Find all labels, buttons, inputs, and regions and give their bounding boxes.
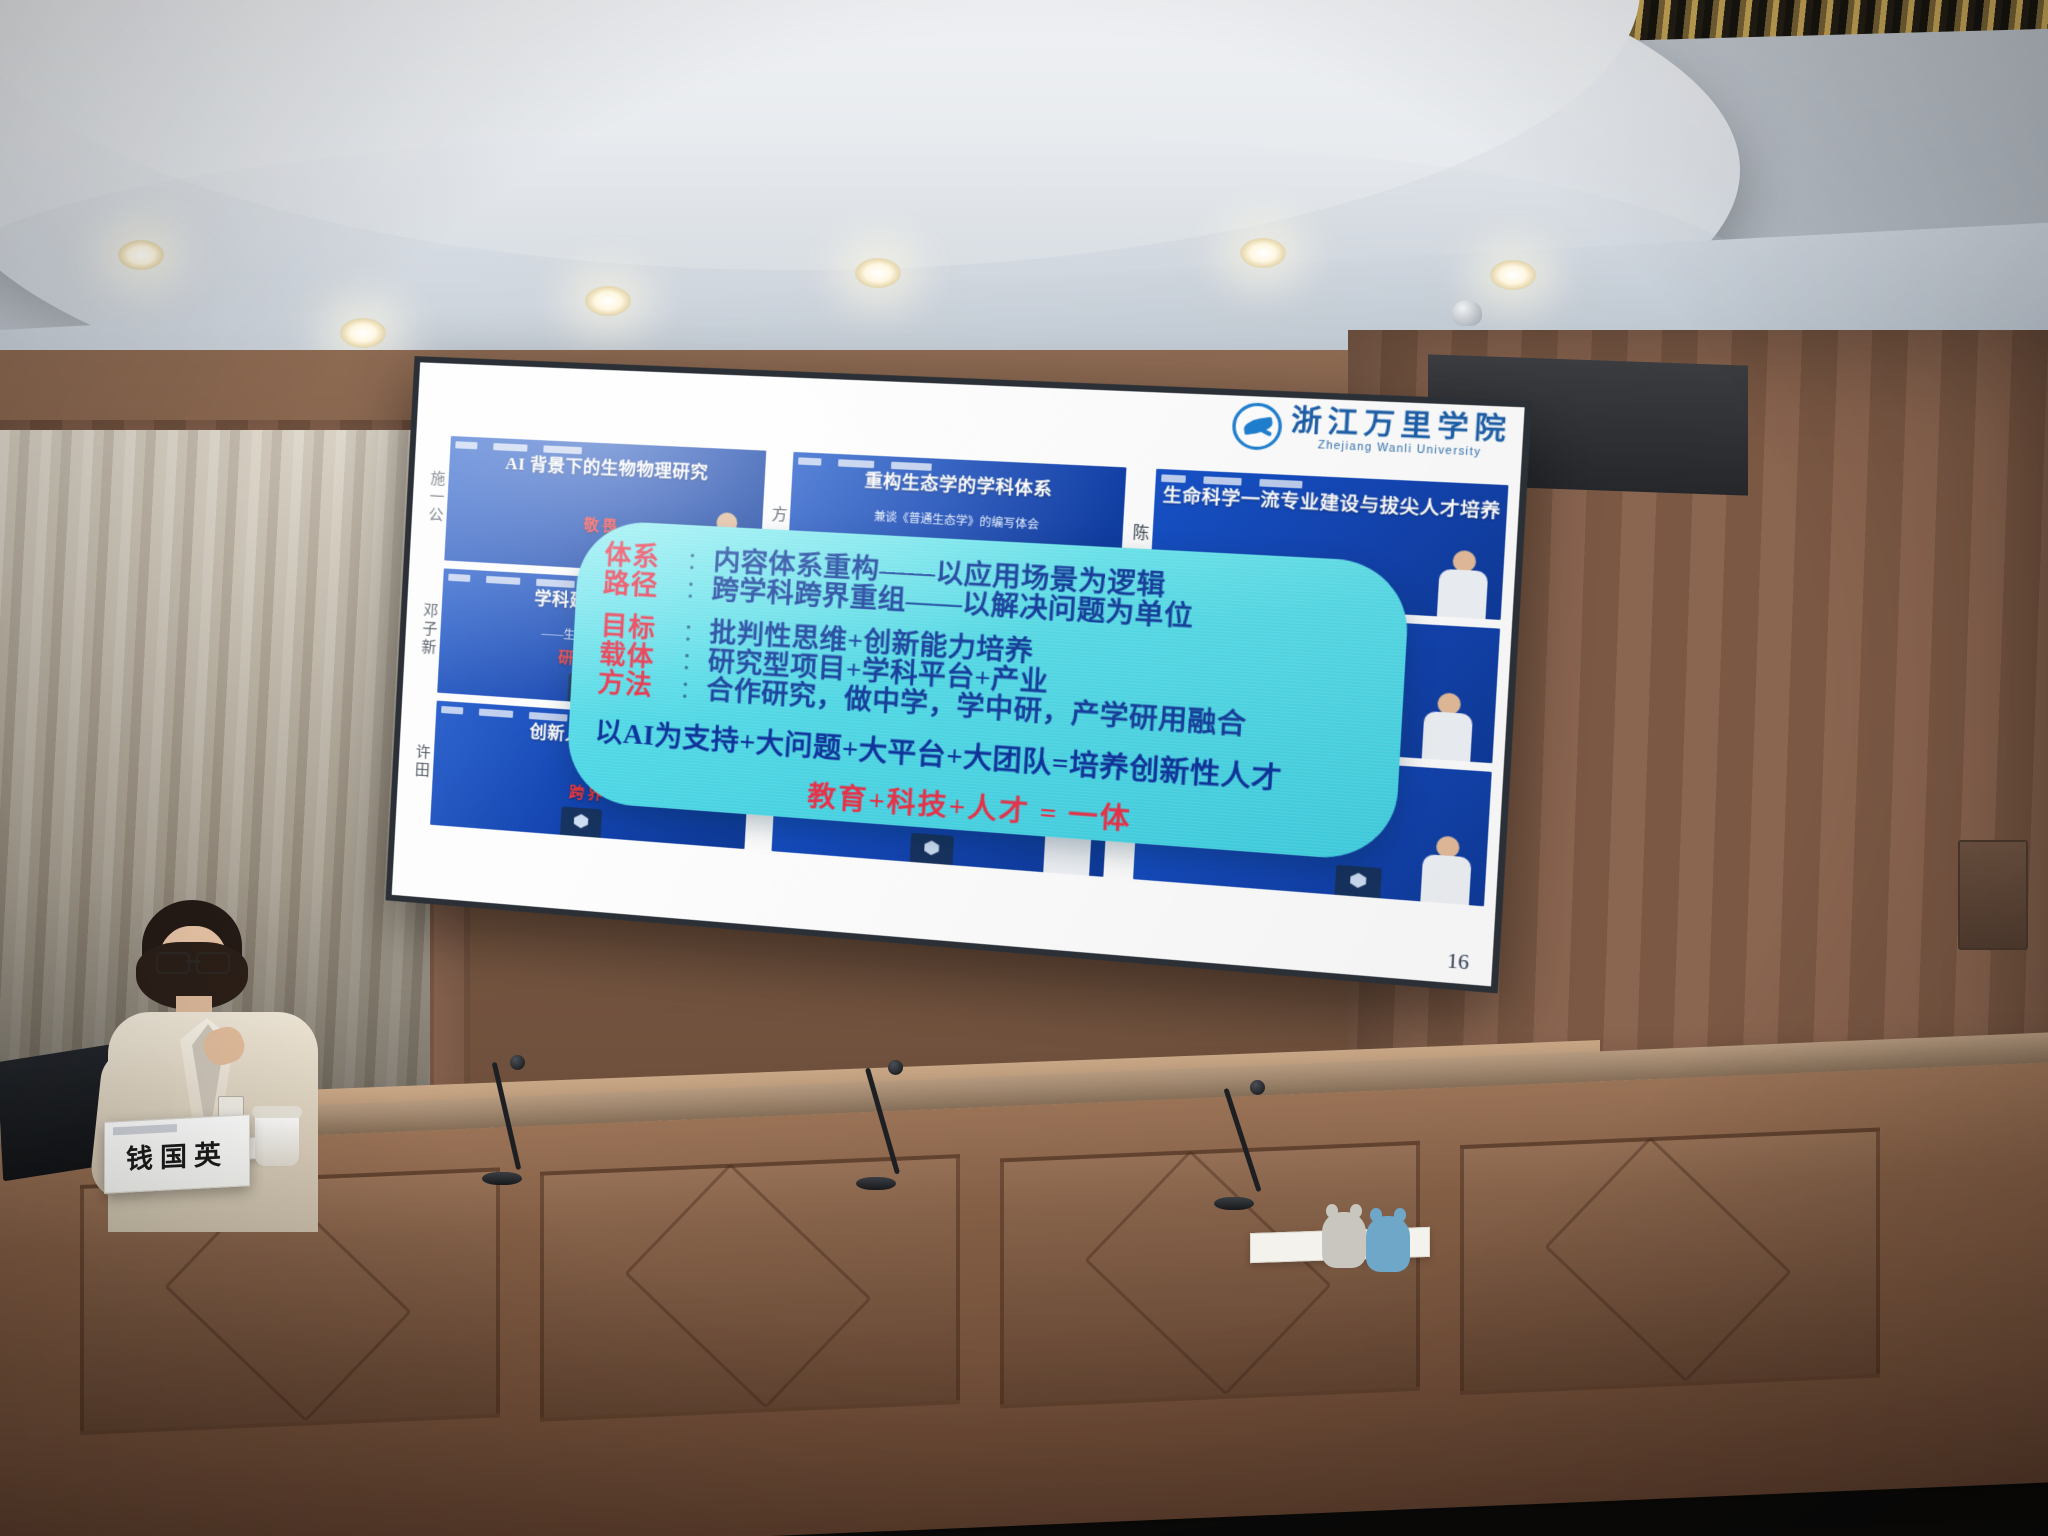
downlight-3 <box>855 258 901 288</box>
mic-base <box>482 1172 522 1185</box>
presentation-slide: 浙江万里学院 Zhejiang Wanli University 施一公 <box>392 362 1525 986</box>
thumbnail-subtitle-1: 兼谈《普通生态学》的编写体会 <box>799 504 1118 537</box>
thumb-logo-b <box>493 443 527 452</box>
ceiling-camera-dome <box>1452 300 1482 326</box>
mic-stem <box>1223 1088 1261 1192</box>
thumb-logo-c <box>1259 479 1302 489</box>
downlight-5 <box>1490 260 1536 290</box>
photo-body <box>1422 711 1473 763</box>
slide-page-number: 16 <box>1446 950 1469 976</box>
thumbnail-speaker-photo-8 <box>1415 834 1479 906</box>
mic-head <box>510 1055 525 1070</box>
thumb-logo-c <box>536 579 575 588</box>
callout-colon-2: ： <box>682 620 706 646</box>
photo-body <box>1437 569 1489 620</box>
mic-base <box>856 1177 896 1190</box>
thumb-logo-c <box>543 445 582 454</box>
mic-base <box>1214 1197 1254 1210</box>
callout-colon-4: ： <box>679 677 703 703</box>
microphone-2[interactable] <box>470 1055 550 1185</box>
callout-key-4: 方法 <box>597 669 676 703</box>
downlight-2 <box>585 286 631 316</box>
downlight-1 <box>340 318 386 348</box>
microphone-4[interactable] <box>1200 1080 1290 1210</box>
microphone-3[interactable] <box>840 1060 930 1190</box>
university-logo: 浙江万里学院 Zhejiang Wanli University <box>1231 402 1513 461</box>
downlight-6 <box>118 240 164 270</box>
speaker-name-2: 陈 <box>1129 524 1147 544</box>
thumb-logo-b <box>1203 476 1241 485</box>
thumbnail-podium-6 <box>560 806 602 837</box>
callout-key-1: 路径 <box>602 569 681 602</box>
name-plate-logo-icon <box>113 1124 177 1135</box>
callout-colon-1: ： <box>684 577 708 603</box>
projection-screen-frame: 浙江万里学院 Zhejiang Wanli University 施一公 <box>385 356 1532 993</box>
photo-body <box>1420 854 1471 906</box>
conference-hall-scene: 浙江万里学院 Zhejiang Wanli University 施一公 <box>0 0 2048 1536</box>
plush-toy-1[interactable] <box>1322 1212 1366 1268</box>
mic-head <box>1250 1080 1265 1095</box>
cup-lid <box>252 1106 302 1118</box>
thumb-logo-b <box>479 709 513 718</box>
mic-stem <box>865 1067 900 1174</box>
projection-screen: 浙江万里学院 Zhejiang Wanli University 施一公 <box>392 362 1525 986</box>
thumb-logo-a <box>441 706 463 715</box>
thumb-logo-a <box>448 574 470 582</box>
downlight-4 <box>1240 238 1286 268</box>
plush-toy-2[interactable] <box>1366 1216 1410 1272</box>
mic-stem <box>492 1062 522 1170</box>
thumb-logo-c <box>529 712 568 722</box>
presenter-glasses <box>156 952 230 970</box>
thumbnail-speaker-photo-2 <box>1431 549 1495 619</box>
callout-colon-3: ： <box>680 649 704 675</box>
speaker-name-6: 许田 <box>412 743 429 780</box>
wall-grille <box>1958 840 2028 950</box>
thumb-logo-a <box>455 441 477 449</box>
thumb-logo-c <box>891 462 932 471</box>
drinking-cup-1[interactable] <box>255 1112 299 1166</box>
thumbnail-podium-8 <box>1334 865 1381 899</box>
callout-colon-0: ： <box>686 548 710 574</box>
mic-head <box>888 1060 903 1075</box>
thumb-logo-a <box>1161 474 1186 483</box>
speaker-name-1: 方 <box>768 505 785 524</box>
thumb-logo-b <box>486 576 520 585</box>
thumb-logo-b <box>838 459 874 468</box>
thumbnail-podium-7 <box>909 833 953 865</box>
thumb-logo-a <box>798 457 821 465</box>
speaker-name-0: 施一公 <box>425 470 443 525</box>
wanli-university-logo-icon <box>1231 402 1283 451</box>
speaker-name-3: 邓子新 <box>418 602 436 657</box>
name-plate-text: 钱国英 <box>126 1132 228 1176</box>
thumbnail-speaker-photo-5 <box>1416 691 1480 762</box>
name-plate: 钱国英 <box>104 1114 250 1194</box>
